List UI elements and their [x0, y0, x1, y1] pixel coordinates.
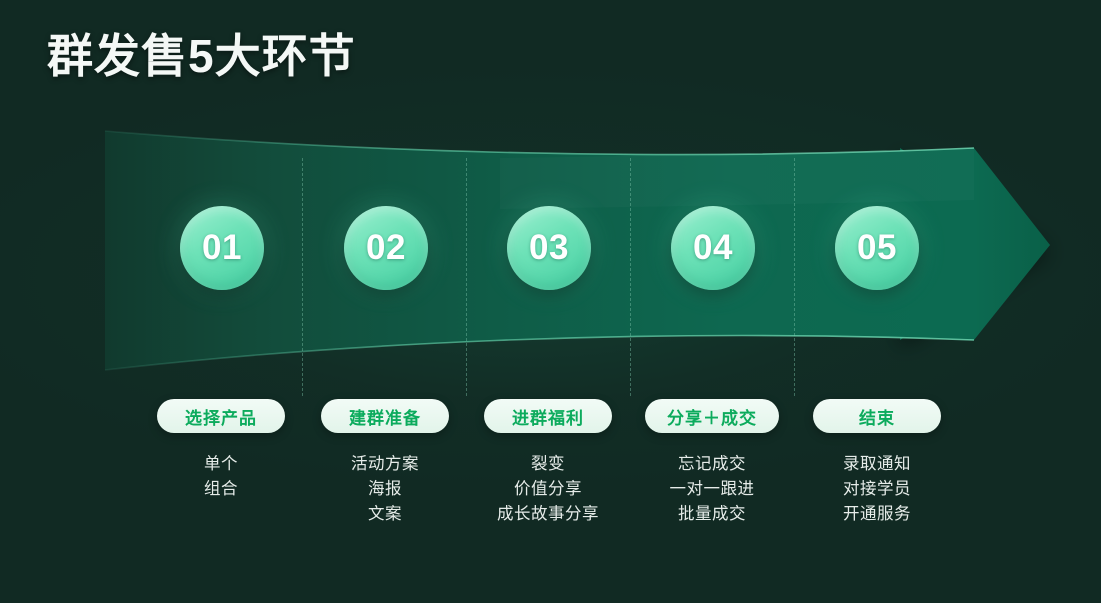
list-item: 开通服务 — [788, 502, 966, 527]
step-pill-4[interactable]: 分享＋成交 — [645, 399, 779, 433]
list-item: 单个 — [132, 452, 310, 477]
divider-2 — [466, 158, 467, 396]
step-items-5: 录取通知 对接学员 开通服务 — [788, 452, 966, 527]
list-item: 忘记成交 — [623, 452, 801, 477]
step-items-2: 活动方案 海报 文案 — [296, 452, 474, 527]
list-item: 一对一跟进 — [623, 477, 801, 502]
step-pill-2[interactable]: 建群准备 — [321, 399, 449, 433]
list-item: 录取通知 — [788, 452, 966, 477]
step-items-3: 裂变 价值分享 成长故事分享 — [459, 452, 637, 527]
list-item: 文案 — [296, 502, 474, 527]
list-item: 海报 — [296, 477, 474, 502]
page-title: 群发售5大环节 — [47, 20, 356, 86]
step-label-5: 结束 — [859, 404, 895, 429]
list-item: 价值分享 — [459, 477, 637, 502]
list-item: 组合 — [132, 477, 310, 502]
step-circle-5[interactable]: 05 — [835, 206, 919, 290]
step-circle-1[interactable]: 01 — [180, 206, 264, 290]
divider-3 — [630, 158, 631, 396]
divider-1 — [302, 158, 303, 396]
step-pill-5[interactable]: 结束 — [813, 399, 941, 433]
step-label-4: 分享＋成交 — [667, 404, 757, 429]
step-number-5: 05 — [857, 228, 897, 268]
step-number-2: 02 — [366, 228, 406, 268]
list-item: 对接学员 — [788, 477, 966, 502]
step-circle-2[interactable]: 02 — [344, 206, 428, 290]
step-pill-1[interactable]: 选择产品 — [157, 399, 285, 433]
slide-canvas: 群发售5大环节 — [0, 0, 1101, 603]
list-item: 成长故事分享 — [459, 502, 637, 527]
step-number-1: 01 — [202, 228, 242, 268]
step-circle-3[interactable]: 03 — [507, 206, 591, 290]
step-circle-4[interactable]: 04 — [671, 206, 755, 290]
step-label-3: 进群福利 — [512, 404, 584, 429]
step-label-2: 建群准备 — [349, 404, 421, 429]
step-number-4: 04 — [693, 228, 733, 268]
list-item: 裂变 — [459, 452, 637, 477]
step-items-1: 单个 组合 — [132, 452, 310, 502]
step-number-3: 03 — [529, 228, 569, 268]
list-item: 活动方案 — [296, 452, 474, 477]
step-items-4: 忘记成交 一对一跟进 批量成交 — [623, 452, 801, 527]
divider-4 — [794, 158, 795, 396]
list-item: 批量成交 — [623, 502, 801, 527]
step-pill-3[interactable]: 进群福利 — [484, 399, 612, 433]
step-label-1: 选择产品 — [185, 404, 257, 429]
